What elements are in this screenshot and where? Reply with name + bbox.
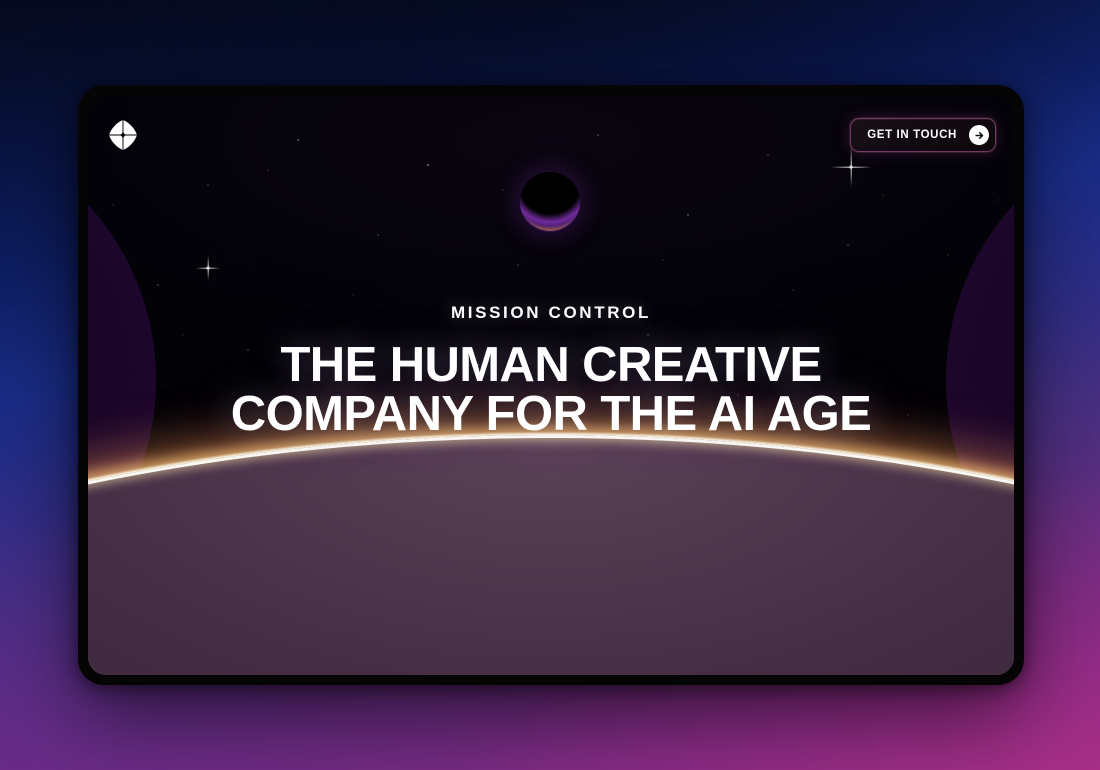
hero-header: GET IN TOUCH — [88, 95, 1014, 175]
arrow-right-circle-icon — [969, 125, 989, 145]
hero-screen: GET IN TOUCH MISSION CONTROL THE HUMAN C… — [88, 95, 1014, 675]
get-in-touch-button[interactable]: GET IN TOUCH — [850, 118, 996, 152]
get-in-touch-label: GET IN TOUCH — [867, 129, 957, 141]
planet-surface — [88, 435, 1014, 675]
device-frame: GET IN TOUCH MISSION CONTROL THE HUMAN C… — [78, 85, 1024, 685]
four-point-petal-star-logo-icon — [104, 116, 142, 154]
brand-logo[interactable] — [104, 116, 142, 154]
